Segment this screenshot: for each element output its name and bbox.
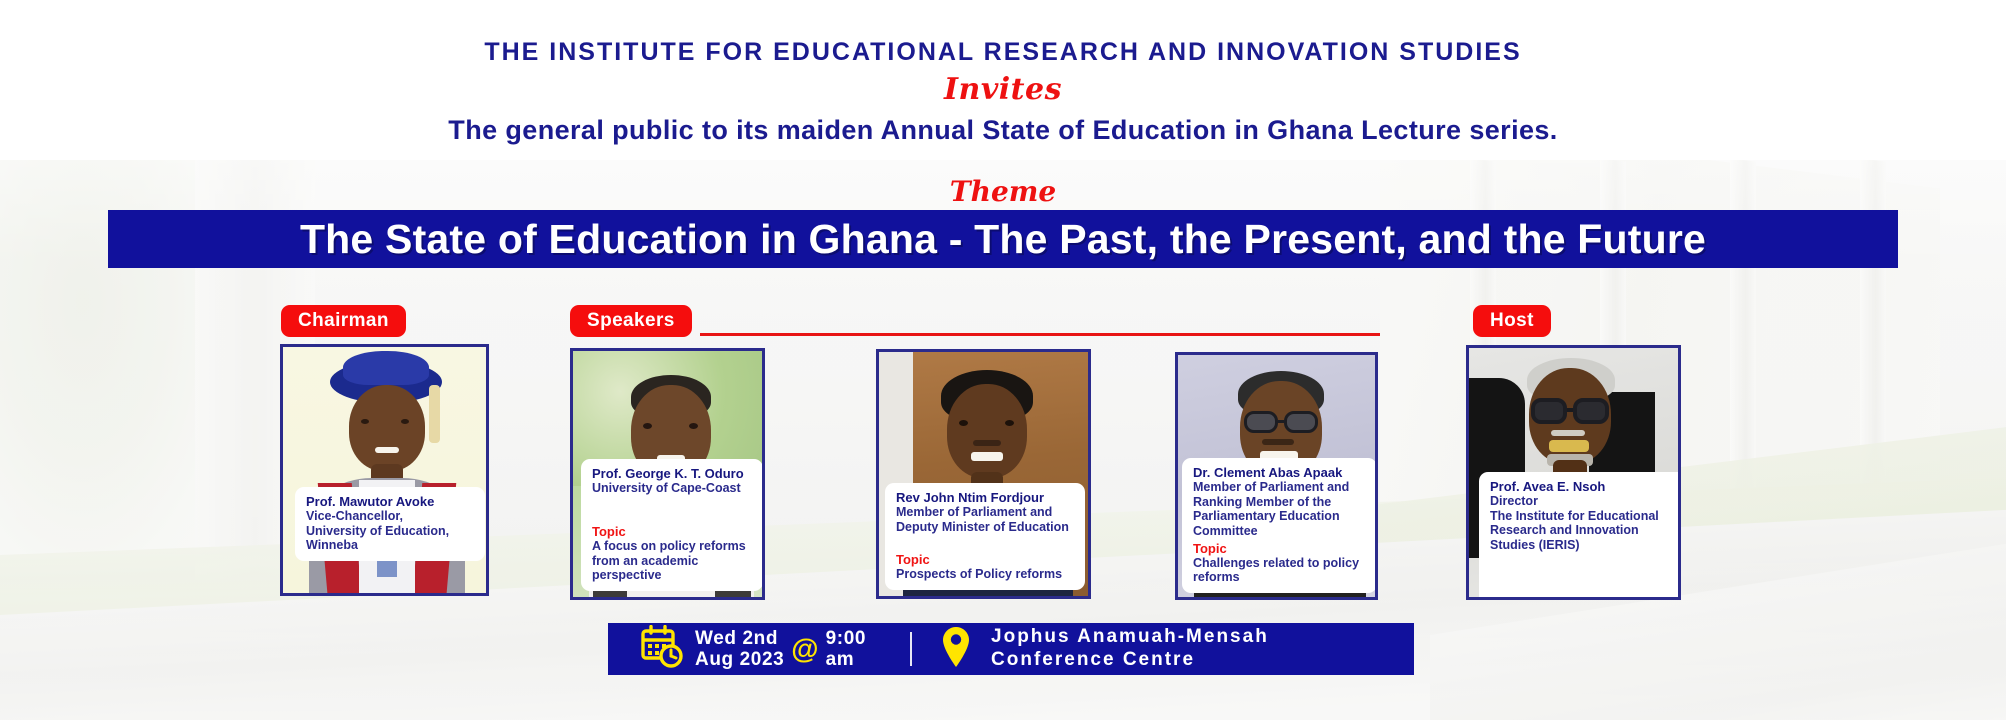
person-card-speaker-3: Dr. Clement Abas Apaak Member of Parliam…	[1175, 352, 1378, 600]
theme-label: Theme	[0, 175, 2006, 208]
speaker-3-role-4: Committee	[1193, 524, 1368, 539]
header-band: THE INSTITUTE FOR EDUCATIONAL RESEARCH A…	[0, 0, 2006, 160]
speaker-2-role-1: Member of Parliament and	[896, 505, 1076, 520]
speaker-2-info-box: Rev John Ntim Fordjour Member of Parliam…	[885, 483, 1085, 590]
speaker-1-name: Prof. George K. T. Oduro	[592, 466, 754, 481]
host-role-4: Studies (IERIS)	[1490, 538, 1681, 553]
flyer-canvas: THE INSTITUTE FOR EDUCATIONAL RESEARCH A…	[0, 0, 2006, 720]
event-venue-line-1: Jophus Anamuah-Mensah	[991, 626, 1269, 649]
person-card-speaker-1: Prof. George K. T. Oduro University of C…	[570, 348, 765, 600]
chairman-role-1: Vice-Chancellor,	[306, 509, 476, 524]
badge-speakers: Speakers	[570, 305, 692, 337]
event-date: Wed 2nd Aug 2023	[695, 628, 784, 671]
person-card-host: Prof. Avea E. Nsoh Director The Institut…	[1466, 345, 1681, 600]
speaker-1-role-1: University of Cape-Coast	[592, 481, 754, 496]
event-time-line-1: 9:00	[826, 628, 866, 649]
speaker-2-role-2: Deputy Minister of Education	[896, 520, 1076, 535]
theme-title: The State of Education in Ghana - The Pa…	[300, 216, 1706, 263]
chairman-role-2: University of Education,	[306, 524, 476, 539]
invites-script-text: Invites	[0, 72, 2006, 107]
speaker-1-info-box: Prof. George K. T. Oduro University of C…	[581, 459, 763, 591]
map-pin-icon	[942, 626, 970, 673]
host-role-3: Research and Innovation	[1490, 523, 1681, 538]
person-card-chairman: Prof. Mawutor Avoke Vice-Chancellor, Uni…	[280, 344, 489, 596]
event-time-line-2: am	[826, 649, 866, 670]
speaker-3-topic-2: reforms	[1193, 570, 1368, 585]
speaker-1-topic-2: from an academic perspective	[592, 554, 754, 583]
calendar-clock-icon	[640, 625, 686, 674]
event-time: 9:00 am	[826, 628, 866, 671]
header-subtitle: The general public to its maiden Annual …	[0, 115, 2006, 146]
speaker-1-topic-label: Topic	[592, 524, 754, 539]
event-date-line-1: Wed 2nd	[695, 628, 784, 649]
info-bar-divider	[910, 632, 912, 666]
host-role-2: The Institute for Educational	[1490, 509, 1681, 524]
chairman-role-3: Winneba	[306, 538, 476, 553]
person-card-speaker-2: Rev John Ntim Fordjour Member of Parliam…	[876, 349, 1091, 599]
speaker-3-topic-label: Topic	[1193, 541, 1368, 556]
event-venue-line-2: Conference Centre	[991, 649, 1269, 672]
host-role-1: Director	[1490, 494, 1681, 509]
host-name: Prof. Avea E. Nsoh	[1490, 479, 1681, 494]
speaker-3-role-3: Parliamentary Education	[1193, 509, 1368, 524]
event-info-bar: Wed 2nd Aug 2023 @ 9:00 am Jophus Anamua…	[608, 623, 1414, 675]
chairman-info-box: Prof. Mawutor Avoke Vice-Chancellor, Uni…	[295, 487, 485, 561]
speaker-3-info-box: Dr. Clement Abas Apaak Member of Parliam…	[1182, 458, 1377, 593]
event-venue: Jophus Anamuah-Mensah Conference Centre	[979, 626, 1269, 672]
speaker-2-topic-label: Topic	[896, 552, 1076, 567]
organization-title: THE INSTITUTE FOR EDUCATIONAL RESEARCH A…	[0, 38, 2006, 67]
host-info-box: Prof. Avea E. Nsoh Director The Institut…	[1479, 472, 1681, 600]
event-date-line-2: Aug 2023	[695, 649, 784, 670]
speaker-3-topic-1: Challenges related to policy	[1193, 556, 1368, 571]
chairman-name: Prof. Mawutor Avoke	[306, 494, 476, 509]
speaker-2-topic-1: Prospects of Policy reforms	[896, 567, 1076, 582]
at-symbol: @	[791, 633, 818, 665]
speakers-divider-rule	[700, 333, 1380, 336]
speaker-3-role-1: Member of Parliament and	[1193, 480, 1368, 495]
badge-chairman: Chairman	[281, 305, 406, 337]
badge-host: Host	[1473, 305, 1551, 337]
speaker-2-name: Rev John Ntim Fordjour	[896, 490, 1076, 505]
speaker-1-topic-1: A focus on policy reforms	[592, 539, 754, 554]
speaker-3-role-2: Ranking Member of the	[1193, 495, 1368, 510]
speaker-3-name: Dr. Clement Abas Apaak	[1193, 465, 1368, 480]
theme-banner: The State of Education in Ghana - The Pa…	[108, 210, 1898, 268]
